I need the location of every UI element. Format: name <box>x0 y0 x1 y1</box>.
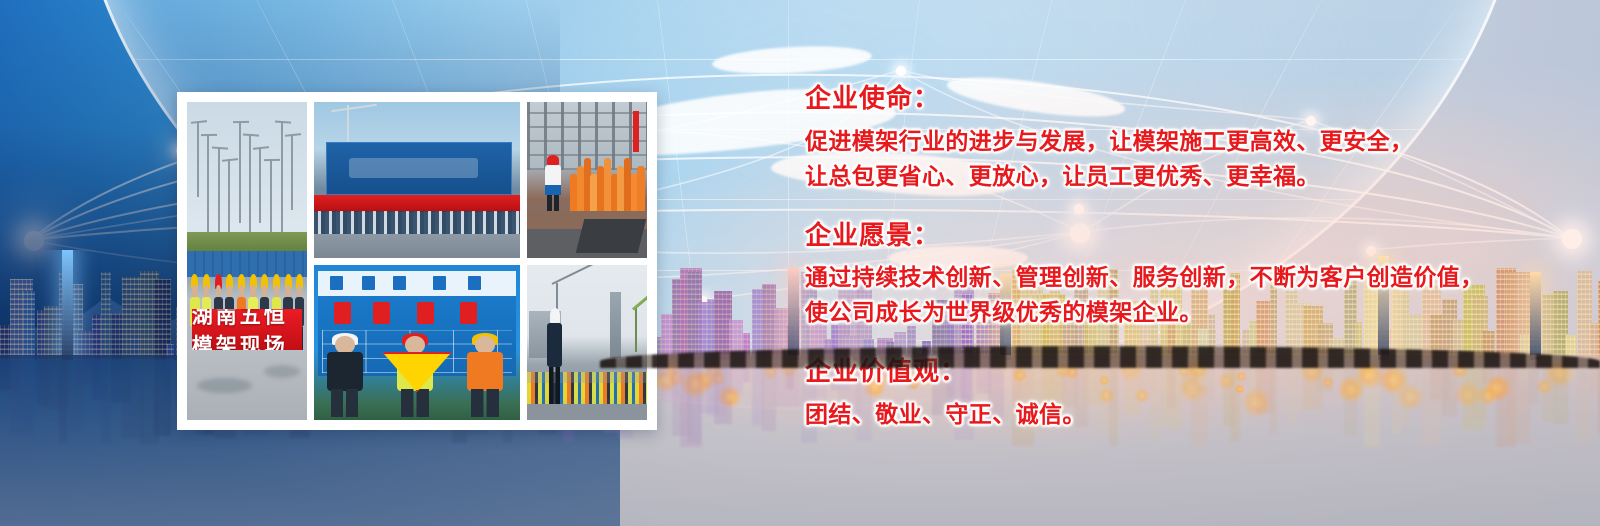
culture-block-line: 让总包更省心、更放心，让员工更优秀、更幸福。 <box>805 160 1565 195</box>
photo-site-group-photo-banner: 湖南五恒模架现场 <box>187 102 307 420</box>
building <box>762 284 776 360</box>
red-banner-strip <box>314 195 520 212</box>
photo-morning-assembly-crane <box>527 265 647 421</box>
culture-block-3: 企业价值观：团结、敬业、守正、诚信。 <box>805 357 1565 433</box>
building <box>59 355 67 443</box>
foreground-worker <box>546 308 563 414</box>
crane-mast <box>281 121 283 248</box>
crane-mast <box>291 134 293 210</box>
crane-mast <box>259 147 261 223</box>
culture-block-1: 企业使命：促进模架行业的进步与发展，让模架施工更高效、更安全，让总包更省心、更放… <box>805 84 1565 195</box>
mobile-crane-icon <box>635 308 637 352</box>
culture-block-line: 使公司成长为世界级优秀的模架企业。 <box>805 296 1565 331</box>
building <box>101 355 111 443</box>
culture-text-column: 企业使命：促进模架行业的进步与发展，让模架施工更高效、更安全，让总包更省心、更放… <box>805 84 1565 433</box>
corporate-culture-banner: 湖南五恒模架现场 <box>0 0 1600 526</box>
photo-safety-training-steel <box>527 102 647 258</box>
culture-block-line: 团结、敬业、守正、诚信。 <box>805 398 1565 433</box>
worker-crowd <box>314 211 520 236</box>
culture-block-line: 通过持续技术创新、管理创新、服务创新，不断为客户创造价值， <box>805 261 1565 296</box>
building <box>101 272 111 360</box>
culture-block-heading: 企业愿景： <box>805 221 1565 253</box>
board-header-char <box>330 276 343 290</box>
crane-jib <box>201 134 217 136</box>
board-title-char <box>334 302 351 324</box>
crane-mast <box>239 121 241 223</box>
board-title-char <box>460 302 477 324</box>
board-title-char <box>417 302 434 324</box>
ground-surface <box>314 234 520 257</box>
culture-block-line: 促进模架行业的进步与发展，让模架施工更高效、更安全， <box>805 125 1565 160</box>
crane-jib <box>233 121 249 123</box>
site-hoarding <box>326 142 511 195</box>
rubber-mat <box>576 219 647 253</box>
landmark-tower <box>788 268 799 360</box>
worker-figure <box>604 158 611 214</box>
red-flag <box>633 111 639 151</box>
worker-figure <box>637 166 644 214</box>
board-title-row <box>326 302 507 324</box>
board-header-char <box>468 276 481 290</box>
concrete-road <box>187 350 307 420</box>
building <box>167 355 174 371</box>
board-header-char <box>433 276 446 290</box>
crane-mast <box>228 159 230 235</box>
crane-jib <box>212 146 228 149</box>
crane-mast <box>207 134 209 236</box>
tower-under-construction <box>610 292 621 357</box>
culture-block-2: 企业愿景：通过持续技术创新、管理创新、服务创新，不断为客户创造价值，使公司成长为… <box>805 221 1565 332</box>
board-title-char <box>373 302 390 324</box>
photo-morning-meeting-board <box>314 265 520 421</box>
worker-figure <box>462 336 507 417</box>
culture-block-heading: 企业使命： <box>805 84 1565 116</box>
worker-figure <box>322 336 367 417</box>
photo-collage-frame: 湖南五恒模架现场 <box>177 92 657 430</box>
building <box>23 355 35 424</box>
building <box>23 291 35 360</box>
board-header-char <box>393 276 406 290</box>
photo-safety-pledge-rally <box>314 102 520 258</box>
landmark-tower <box>62 250 73 360</box>
collage-banner-text: 湖南五恒模架现场 <box>192 309 302 352</box>
ground-surface <box>527 404 647 420</box>
board-header-row <box>318 271 516 296</box>
crane-mast <box>197 121 199 197</box>
board-header-char <box>362 276 375 290</box>
